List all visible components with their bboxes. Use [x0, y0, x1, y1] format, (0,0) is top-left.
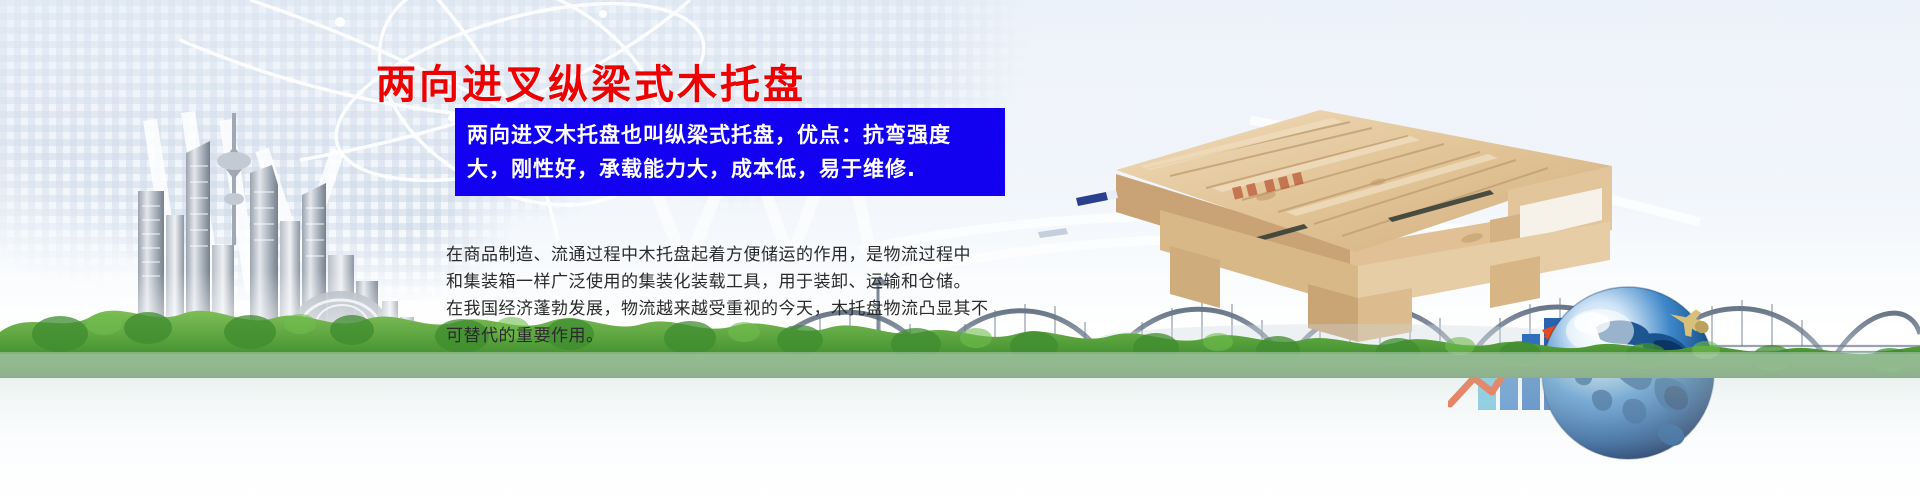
highlight-line-1: 两向进叉木托盘也叫纵梁式托盘，优点：抗弯强度 [467, 118, 999, 152]
highlight-callout-box: 两向进叉木托盘也叫纵梁式托盘，优点：抗弯强度 大，刚性好，承载能力大，成本低，易… [455, 108, 1005, 196]
body-line-2: 和集装箱一样广泛使用的集装化装载工具，用于装卸、运输和仓储。 [446, 269, 1026, 296]
body-description: 在商品制造、流通过程中木托盘起着方便储运的作用，是物流过程中 和集装箱一样广泛使… [446, 242, 1026, 350]
highlight-line-2: 大，刚性好，承载能力大，成本低，易于维修. [467, 152, 999, 186]
product-banner: 两向进叉纵梁式木托盘 两向进叉木托盘也叫纵梁式托盘，优点：抗弯强度 大，刚性好，… [0, 0, 1920, 500]
body-line-4: 可替代的重要作用。 [446, 323, 1026, 350]
page-title: 两向进叉纵梁式木托盘 [376, 52, 806, 110]
blue-earth-globe [1538, 283, 1718, 463]
body-line-3: 在我国经济蓬勃发展，物流越来越受重视的今天，木托盘物流凸显其不 [446, 296, 1026, 323]
body-line-1: 在商品制造、流通过程中木托盘起着方便储运的作用，是物流过程中 [446, 242, 1026, 269]
